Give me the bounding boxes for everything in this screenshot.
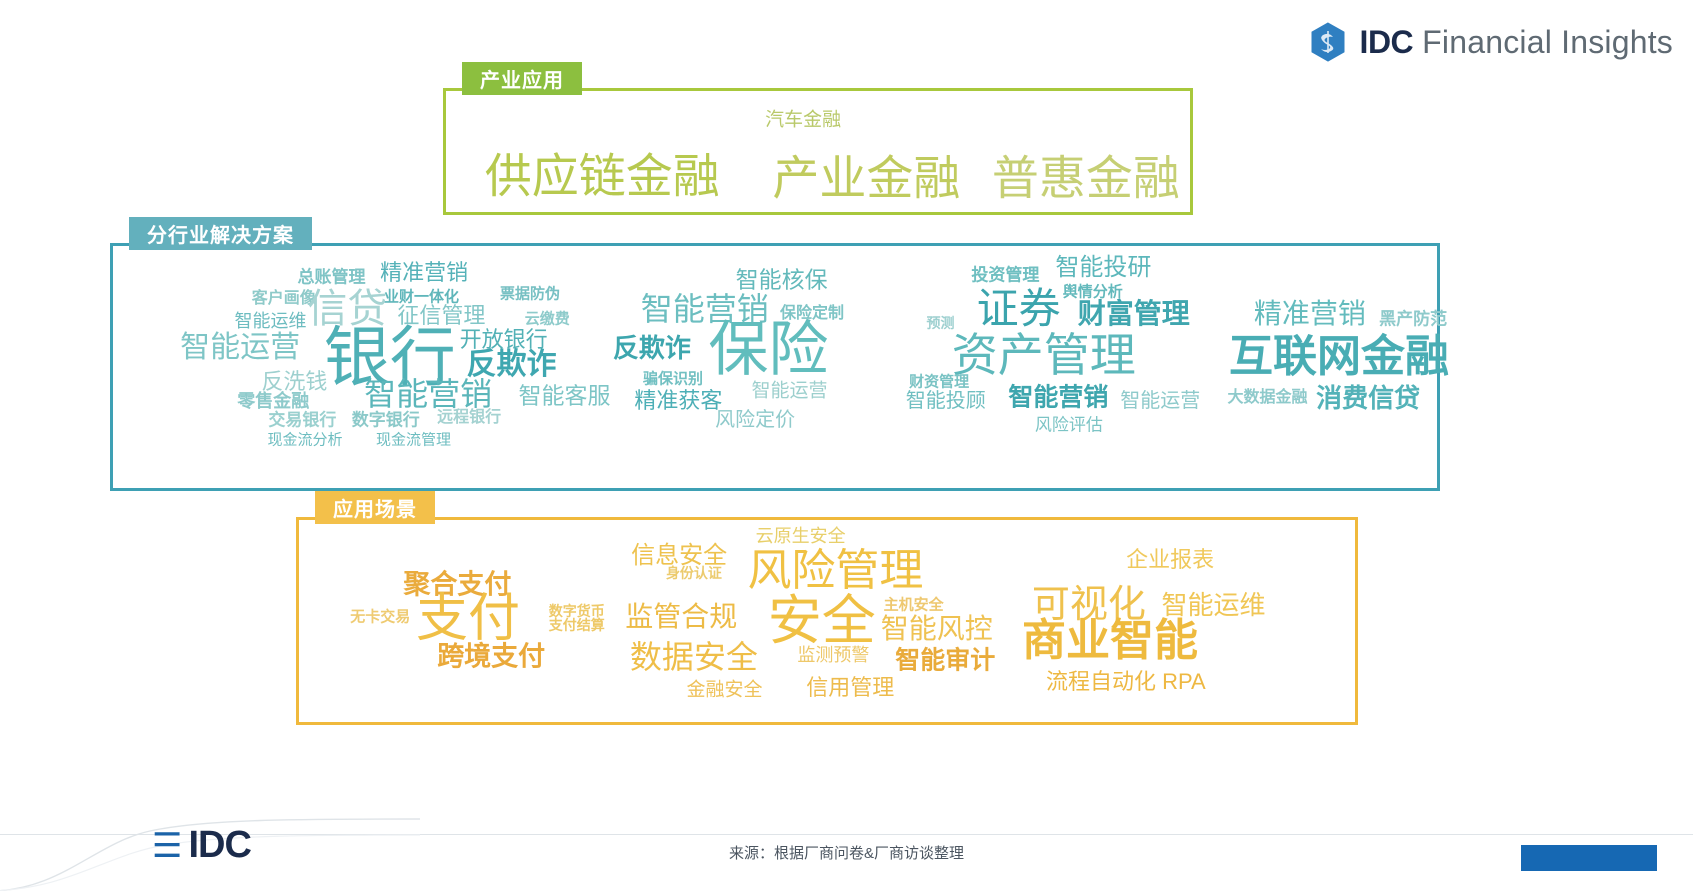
cloud-word: 零售金融 [237, 392, 309, 410]
cloud-word: 跨境支付 [437, 644, 545, 671]
cloud-word: 监管合规 [625, 603, 737, 631]
cloud-word: 精准获客 [634, 390, 722, 412]
cloud-word: 数字货币 [549, 604, 605, 618]
cloud-word: 反欺诈 [613, 335, 691, 361]
cloud-word: 金融安全 [687, 680, 763, 699]
cloud-word: 现金流管理 [376, 432, 451, 447]
cloud-word: 产业金融 [772, 155, 960, 202]
cloud-word: 汽车金融 [765, 111, 841, 130]
cloud-word: 安全 [768, 594, 876, 648]
idc-hexagon-icon [1310, 22, 1346, 62]
cloud-word: 现金流分析 [267, 432, 342, 447]
cloud-word: 智能运营 [180, 333, 300, 363]
cloud-word: 身份认证 [666, 566, 722, 580]
cloud-word: 智能营销 [364, 378, 492, 410]
section-vertical-solutions: 分行业解决方案 总账管理精准营销客户画像业财一体化票据防伪信贷智能运维征信管理云… [110, 243, 1440, 491]
cloud-word: 智能运营 [752, 382, 828, 401]
cloud-word: 互联网金融 [1229, 335, 1449, 379]
cloud-word: 智能投顾 [906, 391, 986, 411]
cloud-word: 财资管理 [909, 374, 969, 389]
cloud-word: 财富管理 [1078, 300, 1190, 328]
cloud-word: 资产管理 [952, 332, 1136, 378]
section-industry-application: 产业应用 汽车金融供应链金融产业金融普惠金融 [443, 88, 1193, 215]
brand-wordmark: IDC Financial Insights [1360, 24, 1673, 61]
section-application-scenario: 应用场景 云原生安全信息安全风险管理身份认证聚合支付企业报表可视化智能运维无卡交… [296, 517, 1358, 725]
header-logo: IDC Financial Insights [1310, 22, 1673, 62]
cloud-word: 交易银行 [268, 412, 336, 429]
cloud-word: 供应链金融 [485, 152, 720, 199]
cloud-word: 云缴费 [525, 311, 570, 326]
cloud-word: 远程银行 [437, 410, 501, 426]
cloud-word: 支付结算 [549, 618, 605, 632]
cloud-word: 反洗钱 [261, 371, 327, 393]
cloud-word: 智能核保 [736, 268, 828, 291]
cloud-word: 风险定价 [715, 410, 795, 430]
cloud-word: 云原生安全 [756, 527, 846, 545]
cloud-word: 流程自动化 RPA [1046, 671, 1206, 693]
cloud-word: 智能营销 [1008, 386, 1108, 411]
cloud-word: 无卡交易 [350, 609, 410, 624]
cloud-word: 预测 [927, 316, 955, 330]
cloud-word: 总账管理 [297, 269, 365, 286]
cloud-word: 企业报表 [1126, 549, 1214, 571]
slide-canvas: IDC Financial Insights 产业应用 汽车金融供应链金融产业金… [0, 0, 1693, 891]
cloud-word: 智能客服 [518, 385, 610, 408]
cloud-word: 业财一体化 [384, 289, 459, 304]
cloud-word: 精准营销 [380, 262, 468, 284]
cloud-word: 精准营销 [1254, 300, 1366, 328]
wordcloud-industry-application: 汽车金融供应链金融产业金融普惠金融 [446, 91, 1190, 212]
cloud-word: 智能风控 [881, 615, 993, 643]
brand-financial-insights: Financial Insights [1422, 24, 1673, 61]
cloud-word: 消费信贷 [1316, 385, 1420, 411]
cloud-word: 普惠金融 [992, 155, 1180, 202]
wordcloud-application-scenario: 云原生安全信息安全风险管理身份认证聚合支付企业报表可视化智能运维无卡交易支付数字… [299, 520, 1355, 722]
cloud-word: 智能运维 [1161, 592, 1265, 618]
cloud-word: 数字银行 [352, 412, 420, 429]
cloud-word: 智能审计 [895, 649, 995, 674]
cloud-word: 信用管理 [806, 677, 894, 699]
cloud-word: 大数据金融 [1228, 390, 1308, 406]
cloud-word: 骗保识别 [643, 372, 703, 387]
cloud-word: 票据防伪 [500, 287, 560, 302]
cloud-word: 智能运营 [1120, 391, 1200, 411]
cloud-word: 主机安全 [884, 597, 944, 612]
wordcloud-vertical-solutions: 总账管理精准营销客户画像业财一体化票据防伪信贷智能运维征信管理云缴费智能运营银行… [113, 246, 1437, 488]
cloud-word: 智能运维 [235, 312, 307, 330]
footer-accent-bar [1521, 845, 1657, 871]
cloud-word: 证券 [977, 288, 1061, 330]
cloud-word: 客户画像 [252, 291, 316, 307]
source-note: 来源：根据厂商问卷&厂商访谈整理 [0, 842, 1693, 863]
brand-idc: IDC [1360, 24, 1414, 61]
cloud-word: 支付 [416, 593, 520, 645]
cloud-word: 智能投研 [1055, 256, 1151, 280]
cloud-word: 监测预警 [797, 646, 869, 664]
cloud-word: 投资管理 [971, 267, 1039, 284]
footer: ☰ IDC 来源：根据厂商问卷&厂商访谈整理 [0, 801, 1693, 891]
cloud-word: 商业智能 [1022, 619, 1198, 663]
cloud-word: 保险 [708, 320, 828, 380]
cloud-word: 风险评估 [1035, 417, 1103, 434]
cloud-word: 黑产防范 [1379, 310, 1447, 327]
cloud-word: 数据安全 [630, 641, 758, 673]
cloud-word: 风险管理 [747, 549, 923, 593]
